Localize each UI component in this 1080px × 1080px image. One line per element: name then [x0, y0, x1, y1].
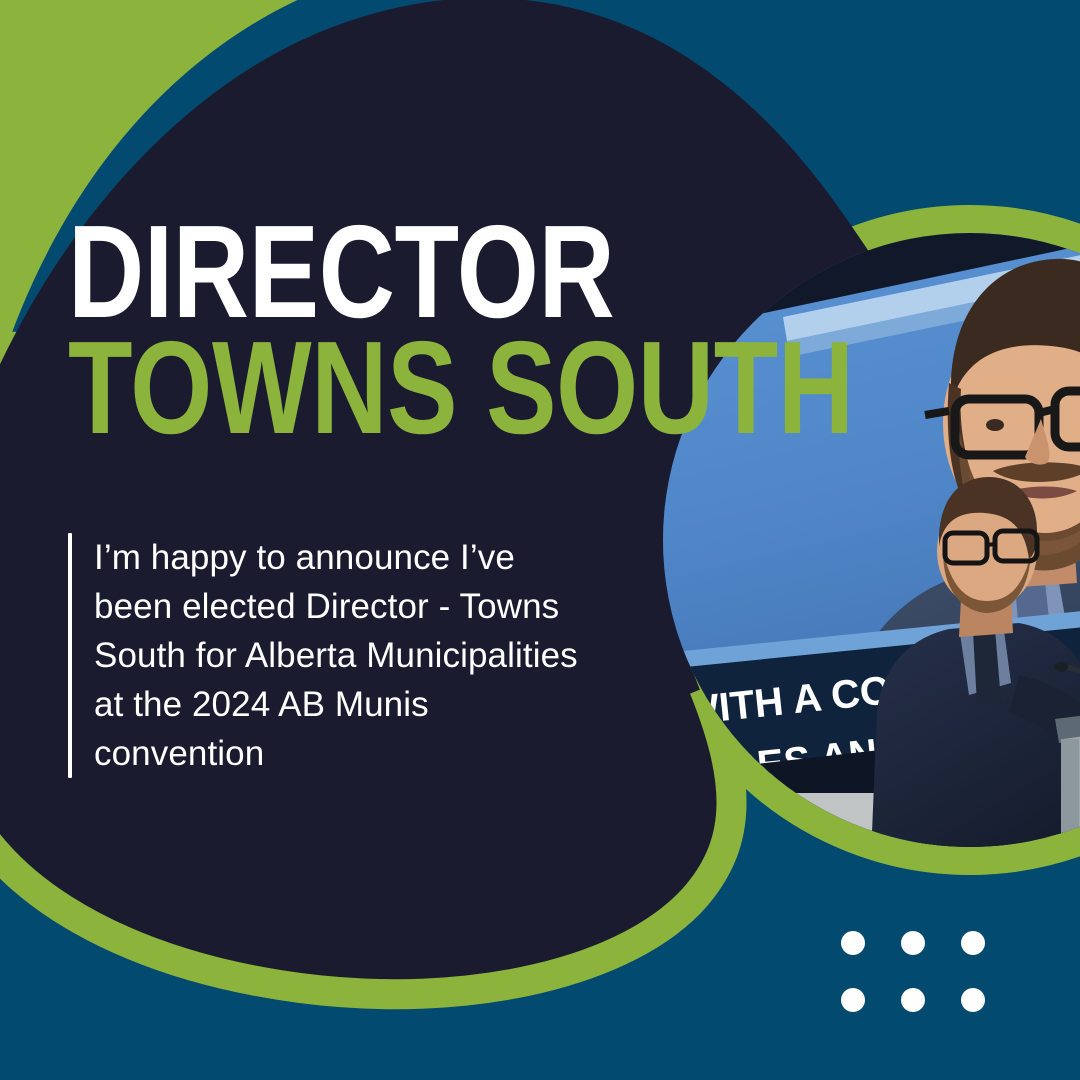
announcement-graphic: WITH A COMPR NGES AND	[0, 0, 1080, 1080]
headline: DIRECTOR TOWNS SOUTH	[68, 214, 1050, 446]
headline-line-2: TOWNS SOUTH	[68, 330, 854, 446]
dots-decoration	[841, 931, 985, 1012]
dot-2	[901, 931, 925, 955]
dot-1	[841, 931, 865, 955]
microphone-head	[1054, 662, 1068, 672]
podium-edge-dark	[1061, 739, 1079, 847]
dot-6	[961, 988, 985, 1012]
headline-line-1: DIRECTOR	[68, 214, 854, 330]
dot-5	[901, 988, 925, 1012]
dot-3	[961, 931, 985, 955]
body-paragraph: I’m happy to announce I’ve been elected …	[72, 533, 598, 778]
body-block: I’m happy to announce I’ve been elected …	[68, 533, 598, 778]
dot-4	[841, 988, 865, 1012]
